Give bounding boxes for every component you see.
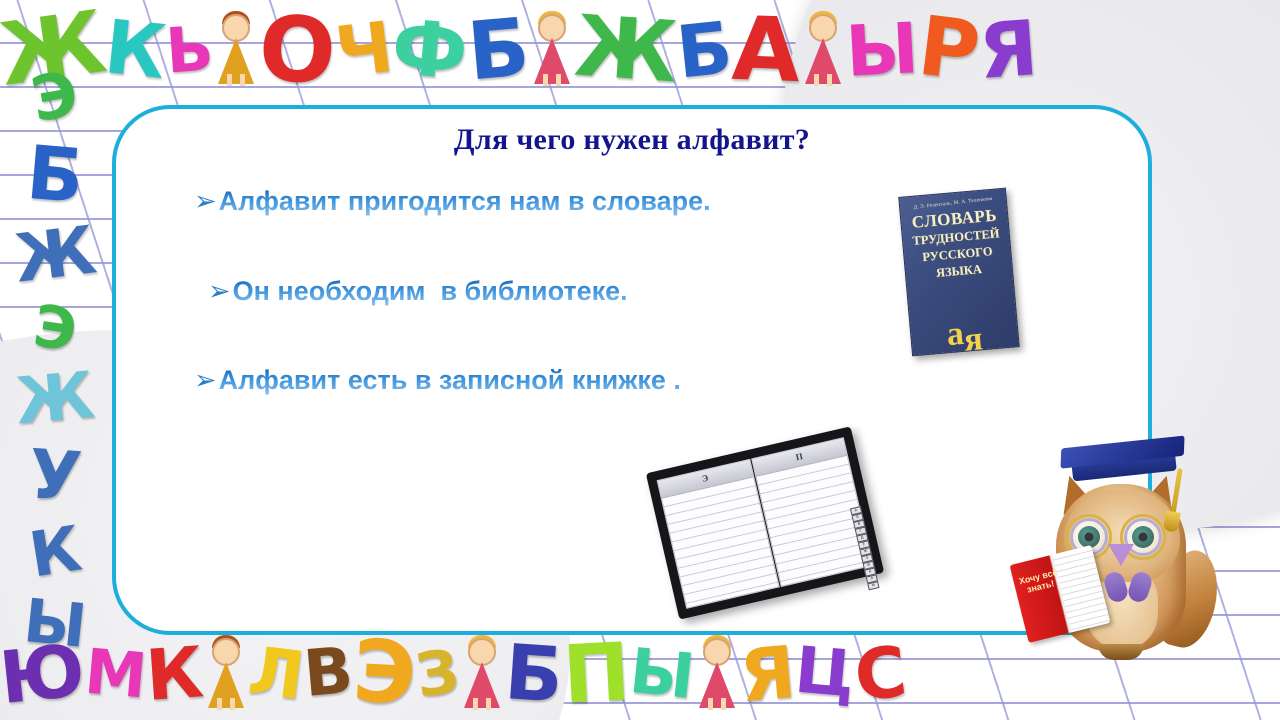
book-letter-a: а bbox=[945, 315, 965, 353]
content-panel: Для чего нужен алфавит? ➢ Алфавит пригод… bbox=[112, 105, 1152, 635]
list-item-label: Он необходим в библиотеке. bbox=[233, 277, 628, 307]
book-alphabet-range: ая bbox=[910, 315, 1018, 353]
list-item-label: Алфавит пригодится нам в словаре. bbox=[219, 187, 711, 217]
owl-book-title: Хочу всё знать! bbox=[1017, 568, 1063, 597]
arrow-bullet-icon: ➢ bbox=[194, 188, 217, 215]
owl-bowtie bbox=[1106, 572, 1150, 602]
owl-mascot-image: Хочу всё знать! bbox=[1012, 432, 1228, 670]
owl-beak bbox=[1108, 544, 1134, 566]
page-title: Для чего нужен алфавит? bbox=[116, 123, 1148, 157]
list-item: ➢ Алфавит пригодится нам в словаре. bbox=[194, 187, 954, 217]
list-item: ➢ Он необходим в библиотеке. bbox=[194, 277, 954, 307]
owl-feet bbox=[1098, 644, 1144, 660]
bullet-list: ➢ Алфавит пригодится нам в словаре. ➢ Он… bbox=[194, 187, 954, 396]
list-item: ➢ Алфавит есть в записной книжке . bbox=[194, 366, 954, 396]
dictionary-book-image: Д. Э. Розенталь, М. А. Теленкова СЛОВАРЬ… bbox=[898, 188, 1020, 357]
arrow-bullet-icon: ➢ bbox=[208, 278, 231, 305]
book-title-line-4: ЯЗЫКА bbox=[911, 261, 1008, 282]
arrow-bullet-icon: ➢ bbox=[194, 367, 217, 394]
notebook-alphabet-index: АБВГДЕЖЗИКЛМ bbox=[850, 506, 872, 559]
list-item-label: Алфавит есть в записной книжке . bbox=[219, 366, 681, 396]
slide-canvas: ЖКЬОЧФБЖБАЫРЯ ЭБЖЭЖУКЫ ЮМКЛВЭЗБПЫЯЦС Для… bbox=[0, 0, 1280, 720]
